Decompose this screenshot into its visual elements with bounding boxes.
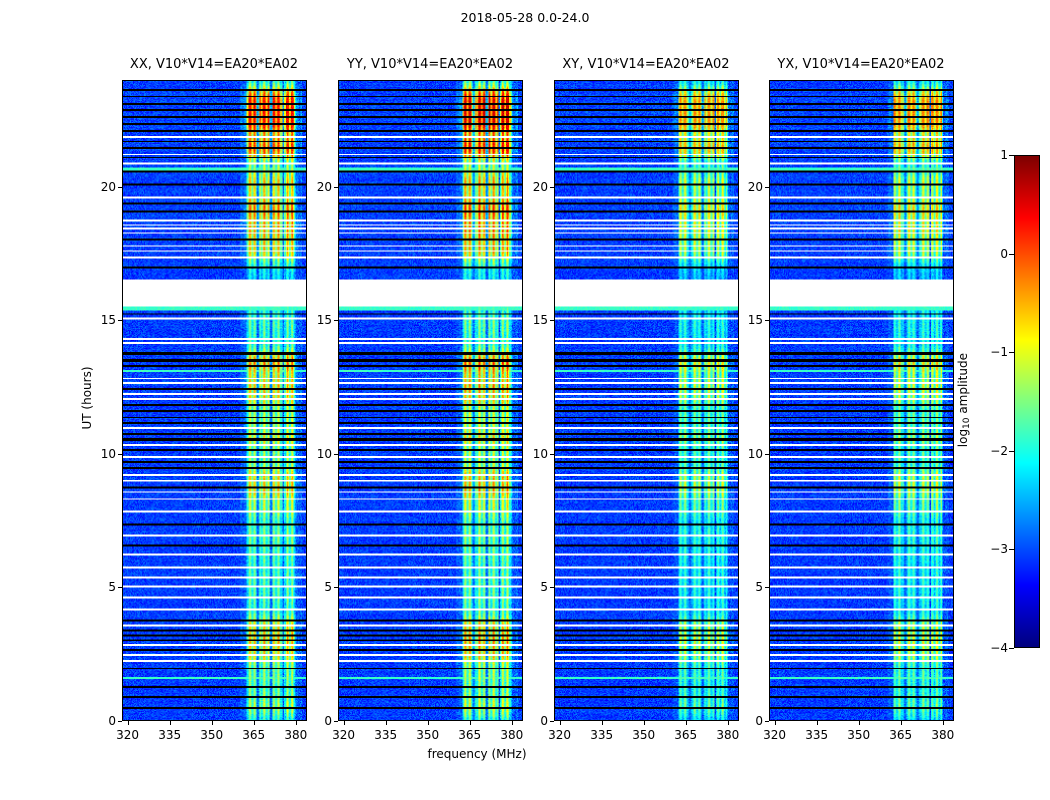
xtick-label: 365 <box>889 728 912 742</box>
xtick-label: 380 <box>716 728 739 742</box>
xtick-mark <box>470 721 471 725</box>
ytick-mark <box>765 320 769 321</box>
xtick-mark <box>817 721 818 725</box>
panel-title-xy: XY, V10*V14=EA20*EA02 <box>526 57 766 72</box>
xtick-label: 380 <box>931 728 954 742</box>
xtick-mark <box>859 721 860 725</box>
ytick-mark <box>334 454 338 455</box>
figure-canvas: 2018-05-28 0.0-24.0 XX, V10*V14=EA20*EA0… <box>0 0 1050 800</box>
xtick-label: 350 <box>200 728 223 742</box>
xtick-label: 350 <box>632 728 655 742</box>
ytick-mark <box>118 587 122 588</box>
panel-xx: XX, V10*V14=EA20*EA02 <box>122 80 307 721</box>
ytick-label: 20 <box>300 180 332 194</box>
colorbar-label-subscript: 10 <box>962 417 972 428</box>
ytick-label: 5 <box>516 580 548 594</box>
colorbar-tick-mark <box>1009 648 1014 649</box>
xtick-mark <box>775 721 776 725</box>
colorbar[interactable] <box>1014 155 1040 648</box>
xtick-label: 320 <box>548 728 571 742</box>
xtick-mark <box>728 721 729 725</box>
xtick-label: 365 <box>242 728 265 742</box>
ytick-mark <box>118 320 122 321</box>
ytick-mark <box>765 187 769 188</box>
axes-yx[interactable] <box>769 80 954 721</box>
colorbar-tick-label: −3 <box>970 542 1008 556</box>
xtick-mark <box>170 721 171 725</box>
xtick-label: 350 <box>847 728 870 742</box>
ytick-label: 15 <box>84 313 116 327</box>
ytick-mark <box>334 587 338 588</box>
panel-yx: YX, V10*V14=EA20*EA02 <box>769 80 954 721</box>
waterfall-image-yx <box>770 81 953 720</box>
waterfall-image-xy <box>555 81 738 720</box>
colorbar-gradient[interactable] <box>1014 155 1040 648</box>
xtick-label: 335 <box>158 728 181 742</box>
ytick-mark <box>118 454 122 455</box>
ytick-label: 0 <box>300 714 332 728</box>
axes-yy[interactable] <box>338 80 523 721</box>
xtick-mark <box>686 721 687 725</box>
xtick-mark <box>428 721 429 725</box>
y-axis-label: UT (hours) <box>80 338 94 458</box>
xtick-label: 320 <box>116 728 139 742</box>
ytick-label: 5 <box>300 580 332 594</box>
axes-xy[interactable] <box>554 80 739 721</box>
xtick-label: 380 <box>500 728 523 742</box>
xtick-mark <box>901 721 902 725</box>
colorbar-tick-mark <box>1009 155 1014 156</box>
ytick-label: 0 <box>84 714 116 728</box>
colorbar-tick-mark <box>1009 549 1014 550</box>
waterfall-image-yy <box>339 81 522 720</box>
ytick-label: 15 <box>731 313 763 327</box>
ytick-mark <box>550 320 554 321</box>
colorbar-tick-label: −4 <box>970 641 1008 655</box>
ytick-mark <box>550 187 554 188</box>
xtick-mark <box>212 721 213 725</box>
ytick-mark <box>334 721 338 722</box>
xtick-label: 335 <box>805 728 828 742</box>
ytick-label: 20 <box>516 180 548 194</box>
colorbar-label-prefix: log <box>956 428 970 446</box>
panel-yy: YY, V10*V14=EA20*EA02 <box>338 80 523 721</box>
ytick-label: 10 <box>516 447 548 461</box>
xtick-mark <box>943 721 944 725</box>
xtick-mark <box>254 721 255 725</box>
ytick-label: 20 <box>84 180 116 194</box>
x-axis-label: frequency (MHz) <box>0 747 954 761</box>
ytick-label: 15 <box>516 313 548 327</box>
ytick-mark <box>550 587 554 588</box>
ytick-mark <box>550 454 554 455</box>
colorbar-label-suffix: amplitude <box>956 353 970 417</box>
xtick-label: 320 <box>763 728 786 742</box>
ytick-label: 15 <box>300 313 332 327</box>
colorbar-tick-label: −1 <box>970 345 1008 359</box>
xtick-mark <box>296 721 297 725</box>
xtick-mark <box>344 721 345 725</box>
ytick-mark <box>765 721 769 722</box>
colorbar-tick-mark <box>1009 451 1014 452</box>
xtick-label: 335 <box>590 728 613 742</box>
xtick-mark <box>128 721 129 725</box>
ytick-label: 5 <box>731 580 763 594</box>
ytick-mark <box>334 187 338 188</box>
xtick-label: 335 <box>374 728 397 742</box>
colorbar-tick-label: −2 <box>970 444 1008 458</box>
ytick-mark <box>765 454 769 455</box>
xtick-label: 350 <box>416 728 439 742</box>
ytick-label: 10 <box>300 447 332 461</box>
xtick-mark <box>644 721 645 725</box>
xtick-label: 320 <box>332 728 355 742</box>
colorbar-tick-label: 0 <box>970 247 1008 261</box>
panel-title-yy: YY, V10*V14=EA20*EA02 <box>310 57 550 72</box>
colorbar-tick-label: 1 <box>970 148 1008 162</box>
ytick-mark <box>118 721 122 722</box>
ytick-label: 10 <box>84 447 116 461</box>
ytick-mark <box>334 320 338 321</box>
ytick-label: 10 <box>731 447 763 461</box>
ytick-label: 0 <box>516 714 548 728</box>
ytick-mark <box>550 721 554 722</box>
xtick-mark <box>386 721 387 725</box>
xtick-label: 365 <box>674 728 697 742</box>
colorbar-label: log10 amplitude <box>956 330 972 470</box>
panel-title-xx: XX, V10*V14=EA20*EA02 <box>94 57 334 72</box>
ytick-mark <box>118 187 122 188</box>
ytick-label: 0 <box>731 714 763 728</box>
panel-title-yx: YX, V10*V14=EA20*EA02 <box>741 57 981 72</box>
axes-xx[interactable] <box>122 80 307 721</box>
panel-xy: XY, V10*V14=EA20*EA02 <box>554 80 739 721</box>
ytick-label: 5 <box>84 580 116 594</box>
xtick-mark <box>602 721 603 725</box>
xtick-label: 365 <box>458 728 481 742</box>
ytick-mark <box>765 587 769 588</box>
figure-suptitle: 2018-05-28 0.0-24.0 <box>0 10 1050 25</box>
xtick-mark <box>560 721 561 725</box>
colorbar-tick-mark <box>1009 352 1014 353</box>
waterfall-image-xx <box>123 81 306 720</box>
ytick-label: 20 <box>731 180 763 194</box>
colorbar-tick-mark <box>1009 254 1014 255</box>
xtick-mark <box>512 721 513 725</box>
xtick-label: 380 <box>284 728 307 742</box>
